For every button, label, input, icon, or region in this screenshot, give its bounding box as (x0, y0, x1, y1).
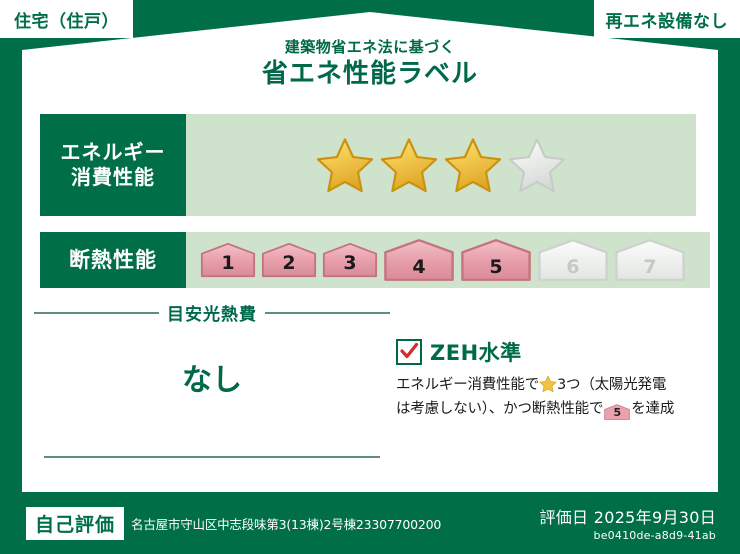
utility-cost-value: なし (34, 355, 390, 399)
zeh-desc-part2: 3つ（太陽光発電 (557, 377, 666, 393)
zeh-desc-part3: は考慮しない）、かつ断熱性能で (396, 401, 603, 417)
star-icon-filled (443, 136, 503, 194)
row-insulation-label: 断熱性能 (40, 232, 186, 288)
row-insulation-label-text: 断熱性能 (69, 247, 157, 273)
property-address: 名古屋市守山区中志段味第3(13棟)2号棟23307700200 (131, 514, 441, 533)
star-icon-filled (315, 136, 375, 194)
zeh-desc-part4: を達成 (631, 401, 674, 417)
insulation-level-7: 7 (614, 238, 686, 282)
zeh-description: エネルギー消費性能で 3つ（太陽光発電 は考慮しない）、かつ断熱性能で 5を達成 (396, 374, 706, 422)
insulation-level-5: 5 (460, 238, 532, 282)
title-subtitle: 建築物省エネ法に基づく (0, 38, 740, 56)
star-icon-empty (507, 136, 567, 194)
insulation-level-number: 5 (489, 256, 502, 282)
star-icon (539, 375, 557, 393)
evaluation-date: 評価日 2025年9月30日 (539, 504, 716, 528)
badge-building-type: 住宅（住戸） (0, 0, 133, 38)
house-badge-icon: 5 (604, 404, 630, 420)
label-footer: 自己評価 名古屋市守山区中志段味第3(13棟)2号棟23307700200 評価… (0, 492, 740, 554)
zeh-title: ZEH水準 (430, 337, 522, 367)
insulation-level-2: 2 (261, 242, 317, 278)
zeh-heading: ZEH水準 (396, 337, 706, 367)
divider-right (265, 312, 390, 314)
insulation-level-number: 4 (412, 256, 425, 282)
utility-cost-heading-text: 目安光熱費 (167, 300, 257, 325)
badge-renewable-energy: 再エネ設備なし (594, 0, 740, 38)
row-insulation-performance: 断熱性能 1234567 (40, 232, 710, 288)
insulation-level-4: 4 (383, 238, 455, 282)
row-energy-performance: エネルギー 消費性能 (40, 114, 696, 216)
check-icon (396, 339, 422, 365)
divider-left (34, 312, 159, 314)
footer-meta: 評価日 2025年9月30日 be0410de-a8d9-41ab (539, 504, 716, 542)
insulation-level-number: 1 (221, 252, 234, 278)
label-title: 建築物省エネ法に基づく 省エネ性能ラベル (0, 38, 740, 92)
star-icon-filled (379, 136, 439, 194)
self-assessment-badge: 自己評価 (26, 507, 124, 540)
insulation-level-3: 3 (322, 242, 378, 278)
row-energy-label-line1: エネルギー (61, 140, 166, 165)
insulation-level-1: 1 (200, 242, 256, 278)
zeh-block: ZEH水準 エネルギー消費性能で 3つ（太陽光発電 は考慮しない）、かつ断熱性能… (396, 337, 706, 422)
label-id: be0410de-a8d9-41ab (539, 529, 716, 542)
insulation-level-number: 2 (282, 252, 295, 278)
row-energy-label-line2: 消費性能 (71, 165, 155, 190)
insulation-level-number: 6 (566, 256, 579, 282)
insulation-level-6: 6 (537, 238, 609, 282)
house-badge-number: 5 (604, 404, 630, 422)
insulation-level-number: 7 (643, 256, 656, 282)
zeh-desc-part1: エネルギー消費性能で (396, 377, 539, 393)
insulation-level-scale: 1234567 (186, 232, 710, 288)
energy-performance-label: 住宅（住戸） 再エネ設備なし 建築物省エネ法に基づく 省エネ性能ラベル エネルギ… (0, 0, 740, 554)
utility-cost-heading: 目安光熱費 (34, 300, 390, 325)
row-energy-label: エネルギー 消費性能 (40, 114, 186, 216)
star-rating (186, 114, 696, 216)
utility-cost-underline (44, 456, 380, 458)
title-main: 省エネ性能ラベル (0, 58, 740, 92)
insulation-level-number: 3 (343, 252, 356, 278)
